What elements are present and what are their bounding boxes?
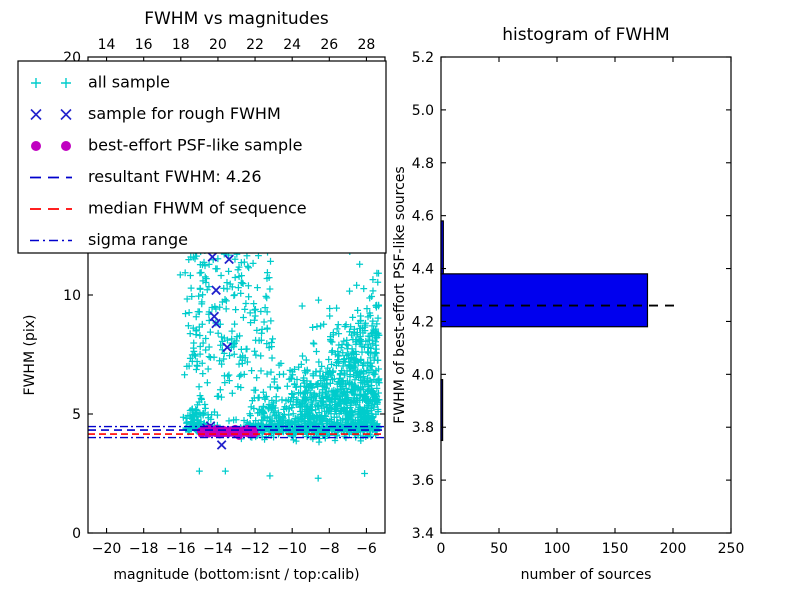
left-xtick-top-label: 16 bbox=[135, 37, 153, 53]
left-ytick-label: 10 bbox=[63, 288, 81, 304]
left-xtick-label: −6 bbox=[356, 541, 377, 557]
left-panel-title: FWHM vs magnitudes bbox=[144, 9, 329, 29]
legend-item-label: median FHWM of sequence bbox=[88, 199, 307, 218]
left-xtick-label: −14 bbox=[203, 541, 233, 557]
legend-dot-icon bbox=[31, 141, 41, 151]
right-xtick-label: 150 bbox=[602, 541, 629, 557]
left-xtick-top-label: 22 bbox=[246, 37, 264, 53]
right-panel-title: histogram of FWHM bbox=[502, 25, 669, 45]
legend-item-label: all sample bbox=[88, 73, 170, 92]
right-xtick-label: 100 bbox=[544, 541, 571, 557]
left-xtick-top-label: 24 bbox=[283, 37, 301, 53]
left-xtick-top-label: 28 bbox=[358, 37, 376, 53]
matplotlib-figure: 051020−20−18−16−14−12−10−8−6141618202224… bbox=[0, 0, 800, 600]
right-ytick-label: 5.0 bbox=[412, 103, 434, 119]
left-xtick-top-label: 26 bbox=[320, 37, 338, 53]
right-ytick-label: 4.4 bbox=[412, 262, 434, 278]
legend-dot-icon bbox=[61, 141, 71, 151]
left-xtick-label: −12 bbox=[240, 541, 270, 557]
left-xtick-label: −8 bbox=[319, 541, 340, 557]
right-ytick-label: 4.0 bbox=[412, 367, 434, 383]
left-panel-ylabel: FWHM (pix) bbox=[22, 315, 38, 396]
left-panel-xlabel: magnitude (bottom:isnt / top:calib) bbox=[113, 567, 359, 583]
left-xtick-top-label: 20 bbox=[209, 37, 227, 53]
right-ytick-label: 4.8 bbox=[412, 156, 434, 172]
left-xtick-top-label: 18 bbox=[172, 37, 190, 53]
right-panel-xlabel: number of sources bbox=[521, 567, 652, 583]
left-xtick-label: −20 bbox=[92, 541, 122, 557]
left-ytick-label: 5 bbox=[72, 407, 81, 423]
right-xtick-label: 50 bbox=[490, 541, 508, 557]
left-xtick-label: −18 bbox=[129, 541, 159, 557]
right-xtick-label: 0 bbox=[437, 541, 446, 557]
right-ytick-label: 3.4 bbox=[412, 526, 434, 542]
right-ytick-label: 3.8 bbox=[412, 420, 434, 436]
right-panel-histogram bbox=[441, 221, 679, 440]
left-xtick-label: −16 bbox=[166, 541, 196, 557]
right-xtick-label: 250 bbox=[718, 541, 745, 557]
left-xtick-label: −10 bbox=[277, 541, 307, 557]
right-ytick-label: 5.2 bbox=[412, 50, 434, 66]
figure-canvas: 051020−20−18−16−14−12−10−8−6141618202224… bbox=[0, 0, 800, 600]
legend-box bbox=[18, 61, 386, 253]
legend-item-label: sample for rough FWHM bbox=[88, 104, 281, 123]
right-ytick-label: 4.2 bbox=[412, 314, 434, 330]
left-ytick-label: 0 bbox=[72, 526, 81, 542]
right-ytick-label: 4.6 bbox=[412, 209, 434, 225]
right-ytick-label: 3.6 bbox=[412, 473, 434, 489]
histogram-bar bbox=[441, 274, 647, 327]
left-xtick-top-label: 14 bbox=[98, 37, 116, 53]
right-panel-ylabel: FWHM of best-effort PSF-like sources bbox=[392, 166, 408, 423]
right-xtick-label: 200 bbox=[660, 541, 687, 557]
legend-item-label: best-effort PSF-like sample bbox=[88, 136, 302, 155]
legend-item-label: sigma range bbox=[88, 230, 188, 249]
legend-item-label: resultant FWHM: 4.26 bbox=[88, 167, 262, 186]
